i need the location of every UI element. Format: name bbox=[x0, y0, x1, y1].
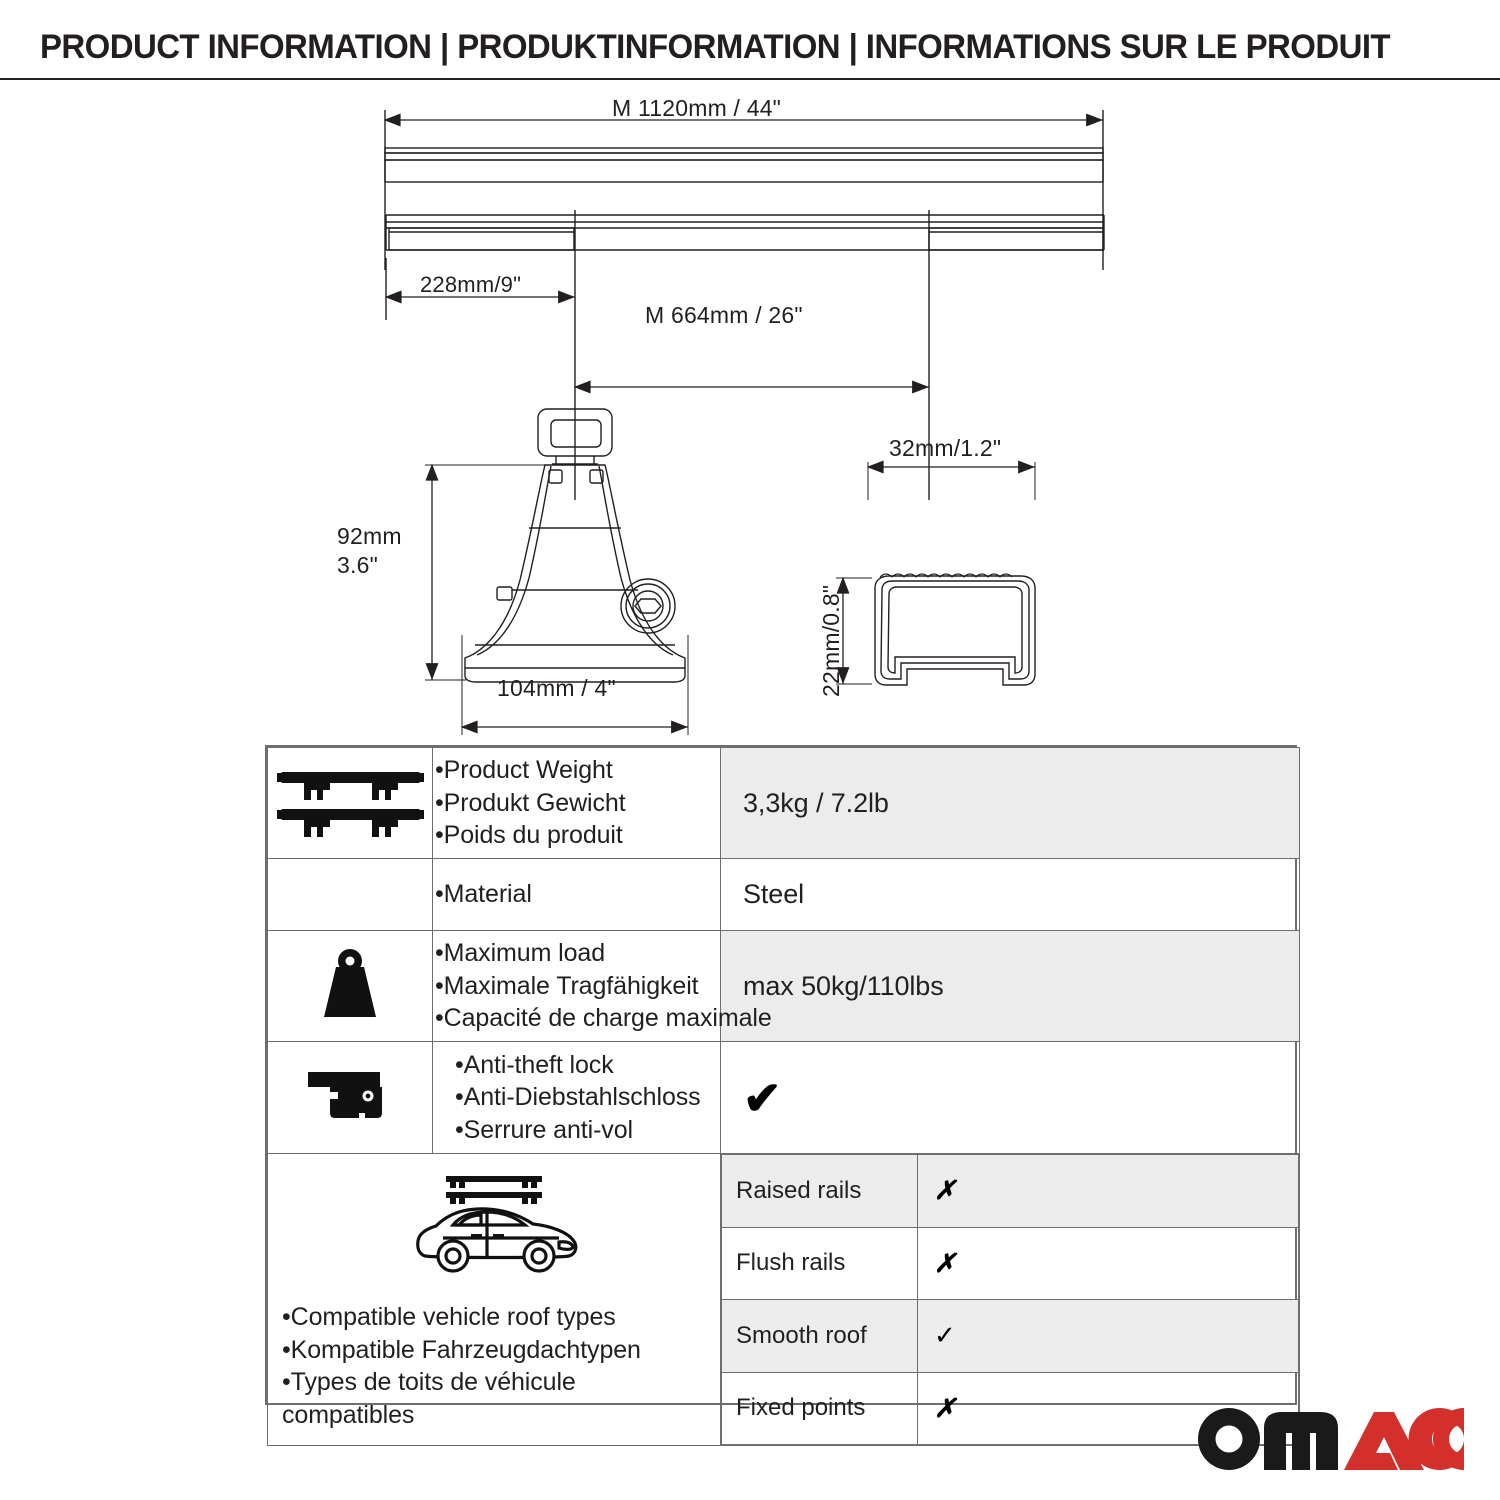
material-icon-cell bbox=[268, 859, 433, 931]
roof-type-mark: ✗ bbox=[918, 1248, 1298, 1279]
label-line: •Anti-theft lock bbox=[455, 1049, 714, 1082]
dim-profile-width: 32mm/1.2" bbox=[889, 435, 1001, 462]
label-line: •Material bbox=[435, 878, 714, 911]
specification-table: •Product Weight •Produkt Gewicht •Poids … bbox=[265, 745, 1297, 1405]
omac-logo bbox=[1198, 1408, 1464, 1470]
label-line: •Types de toits de véhicule compatibles bbox=[282, 1366, 612, 1431]
maxload-labels: •Maximum load •Maximale Tragfähigkeit •C… bbox=[433, 933, 720, 1039]
material-value: Steel bbox=[721, 879, 1299, 910]
roof-type-label: Flush rails bbox=[722, 1249, 917, 1277]
material-value-cell: Steel bbox=[721, 859, 1300, 931]
compatibility-label-cell: •Compatible vehicle roof types •Kompatib… bbox=[268, 1154, 721, 1446]
roof-type-row: Smooth roof ✓ bbox=[722, 1300, 1299, 1373]
roof-type-row: Flush rails ✗ bbox=[722, 1227, 1299, 1300]
label-line: •Product Weight bbox=[435, 754, 714, 787]
weight-label-cell: •Product Weight •Produkt Gewicht •Poids … bbox=[433, 748, 721, 859]
label-line: •Compatible vehicle roof types bbox=[282, 1301, 641, 1334]
roof-type-label: Smooth roof bbox=[722, 1322, 917, 1350]
logo-letter-o bbox=[1198, 1408, 1260, 1470]
roof-types-cell: Raised rails ✗ Flush rails ✗ bbox=[721, 1154, 1300, 1446]
label-line: •Poids du produit bbox=[435, 819, 714, 852]
label-line: •Serrure anti-vol bbox=[455, 1114, 714, 1147]
roof-type-mark: ✓ bbox=[918, 1320, 1298, 1351]
label-line: •Capacité de charge maximale bbox=[435, 1002, 714, 1035]
label-line: •Anti-Diebstahlschloss bbox=[455, 1081, 714, 1114]
maxload-value: max 50kg/110lbs bbox=[721, 971, 1299, 1002]
dim-foot-width: 104mm / 4" bbox=[497, 675, 616, 702]
table-row: •Material Steel bbox=[268, 859, 1300, 931]
roof-type-label-cell: Smooth roof bbox=[722, 1300, 918, 1373]
maxload-label-cell: •Maximum load •Maximale Tragfähigkeit •C… bbox=[433, 931, 721, 1042]
dim-end-offset: 228mm/9" bbox=[420, 272, 521, 298]
crossbars-icon-cell bbox=[268, 748, 433, 859]
lock-value-cell: ✔ bbox=[721, 1042, 1300, 1154]
technical-drawing: M 1120mm / 44" 228mm/9" M 664mm / 26" 92… bbox=[0, 80, 1500, 740]
dim-foot-height-in: 3.6" bbox=[337, 552, 378, 579]
weight-labels: •Product Weight •Produkt Gewicht •Poids … bbox=[433, 750, 720, 856]
label-line: •Kompatible Fahrzeugdachtypen bbox=[282, 1334, 641, 1367]
roof-type-mark: ✗ bbox=[918, 1175, 1298, 1206]
roof-type-label-cell: Raised rails bbox=[722, 1155, 918, 1228]
label-line: •Produkt Gewicht bbox=[435, 787, 714, 820]
maxload-value-cell: max 50kg/110lbs bbox=[721, 931, 1300, 1042]
drawing-svg bbox=[0, 80, 1500, 740]
two-crossbars-icon bbox=[273, 825, 428, 842]
dim-foot-spacing: M 664mm / 26" bbox=[645, 302, 803, 329]
dim-bar-length: M 1120mm / 44" bbox=[612, 95, 781, 122]
roof-type-label-cell: Flush rails bbox=[722, 1227, 918, 1300]
weight-value-cell: 3,3kg / 7.2lb bbox=[721, 748, 1300, 859]
table-row: •Anti-theft lock •Anti-Diebstahlschloss … bbox=[268, 1042, 1300, 1154]
lock-label-cell: •Anti-theft lock •Anti-Diebstahlschloss … bbox=[433, 1042, 721, 1154]
table-row: •Maximum load •Maximale Tragfähigkeit •C… bbox=[268, 931, 1300, 1042]
lock-check-mark: ✔ bbox=[721, 1075, 1299, 1121]
roof-type-mark-cell: ✓ bbox=[918, 1300, 1299, 1373]
roof-type-row: Raised rails ✗ bbox=[722, 1155, 1299, 1228]
label-line: •Maximum load bbox=[435, 937, 714, 970]
roof-type-mark-cell: ✗ bbox=[918, 1227, 1299, 1300]
weight-icon-cell bbox=[268, 931, 433, 1042]
roof-type-label: Fixed points bbox=[722, 1394, 917, 1422]
weight-value: 3,3kg / 7.2lb bbox=[721, 788, 1299, 819]
roof-type-mark-cell: ✗ bbox=[918, 1155, 1299, 1228]
omac-logo-svg bbox=[1198, 1408, 1464, 1470]
page-title: PRODUCT INFORMATION | PRODUKTINFORMATION… bbox=[40, 28, 1427, 67]
compatibility-labels: •Compatible vehicle roof types •Kompatib… bbox=[282, 1297, 647, 1435]
car-with-roof-rack-icon bbox=[409, 1168, 585, 1291]
material-label-cell: •Material bbox=[433, 859, 721, 931]
material-labels: •Material bbox=[433, 874, 720, 915]
label-line: •Maximale Tragfähigkeit bbox=[435, 970, 714, 1003]
logo-letter-m bbox=[1264, 1412, 1338, 1470]
roof-type-label: Raised rails bbox=[722, 1177, 917, 1205]
lock-icon bbox=[302, 1111, 398, 1128]
table-row: •Product Weight •Produkt Gewicht •Poids … bbox=[268, 748, 1300, 859]
table-row-compatibility: •Compatible vehicle roof types •Kompatib… bbox=[268, 1154, 1300, 1446]
dim-foot-height-mm: 92mm bbox=[337, 523, 402, 550]
roof-type-label-cell: Fixed points bbox=[722, 1372, 918, 1445]
dim-profile-height: 22mm/0.8" bbox=[818, 585, 845, 697]
lock-icon-cell bbox=[268, 1042, 433, 1154]
roof-types-table: Raised rails ✗ Flush rails ✗ bbox=[721, 1154, 1299, 1445]
weight-icon bbox=[310, 1008, 390, 1025]
lock-labels: •Anti-theft lock •Anti-Diebstahlschloss … bbox=[433, 1045, 720, 1151]
